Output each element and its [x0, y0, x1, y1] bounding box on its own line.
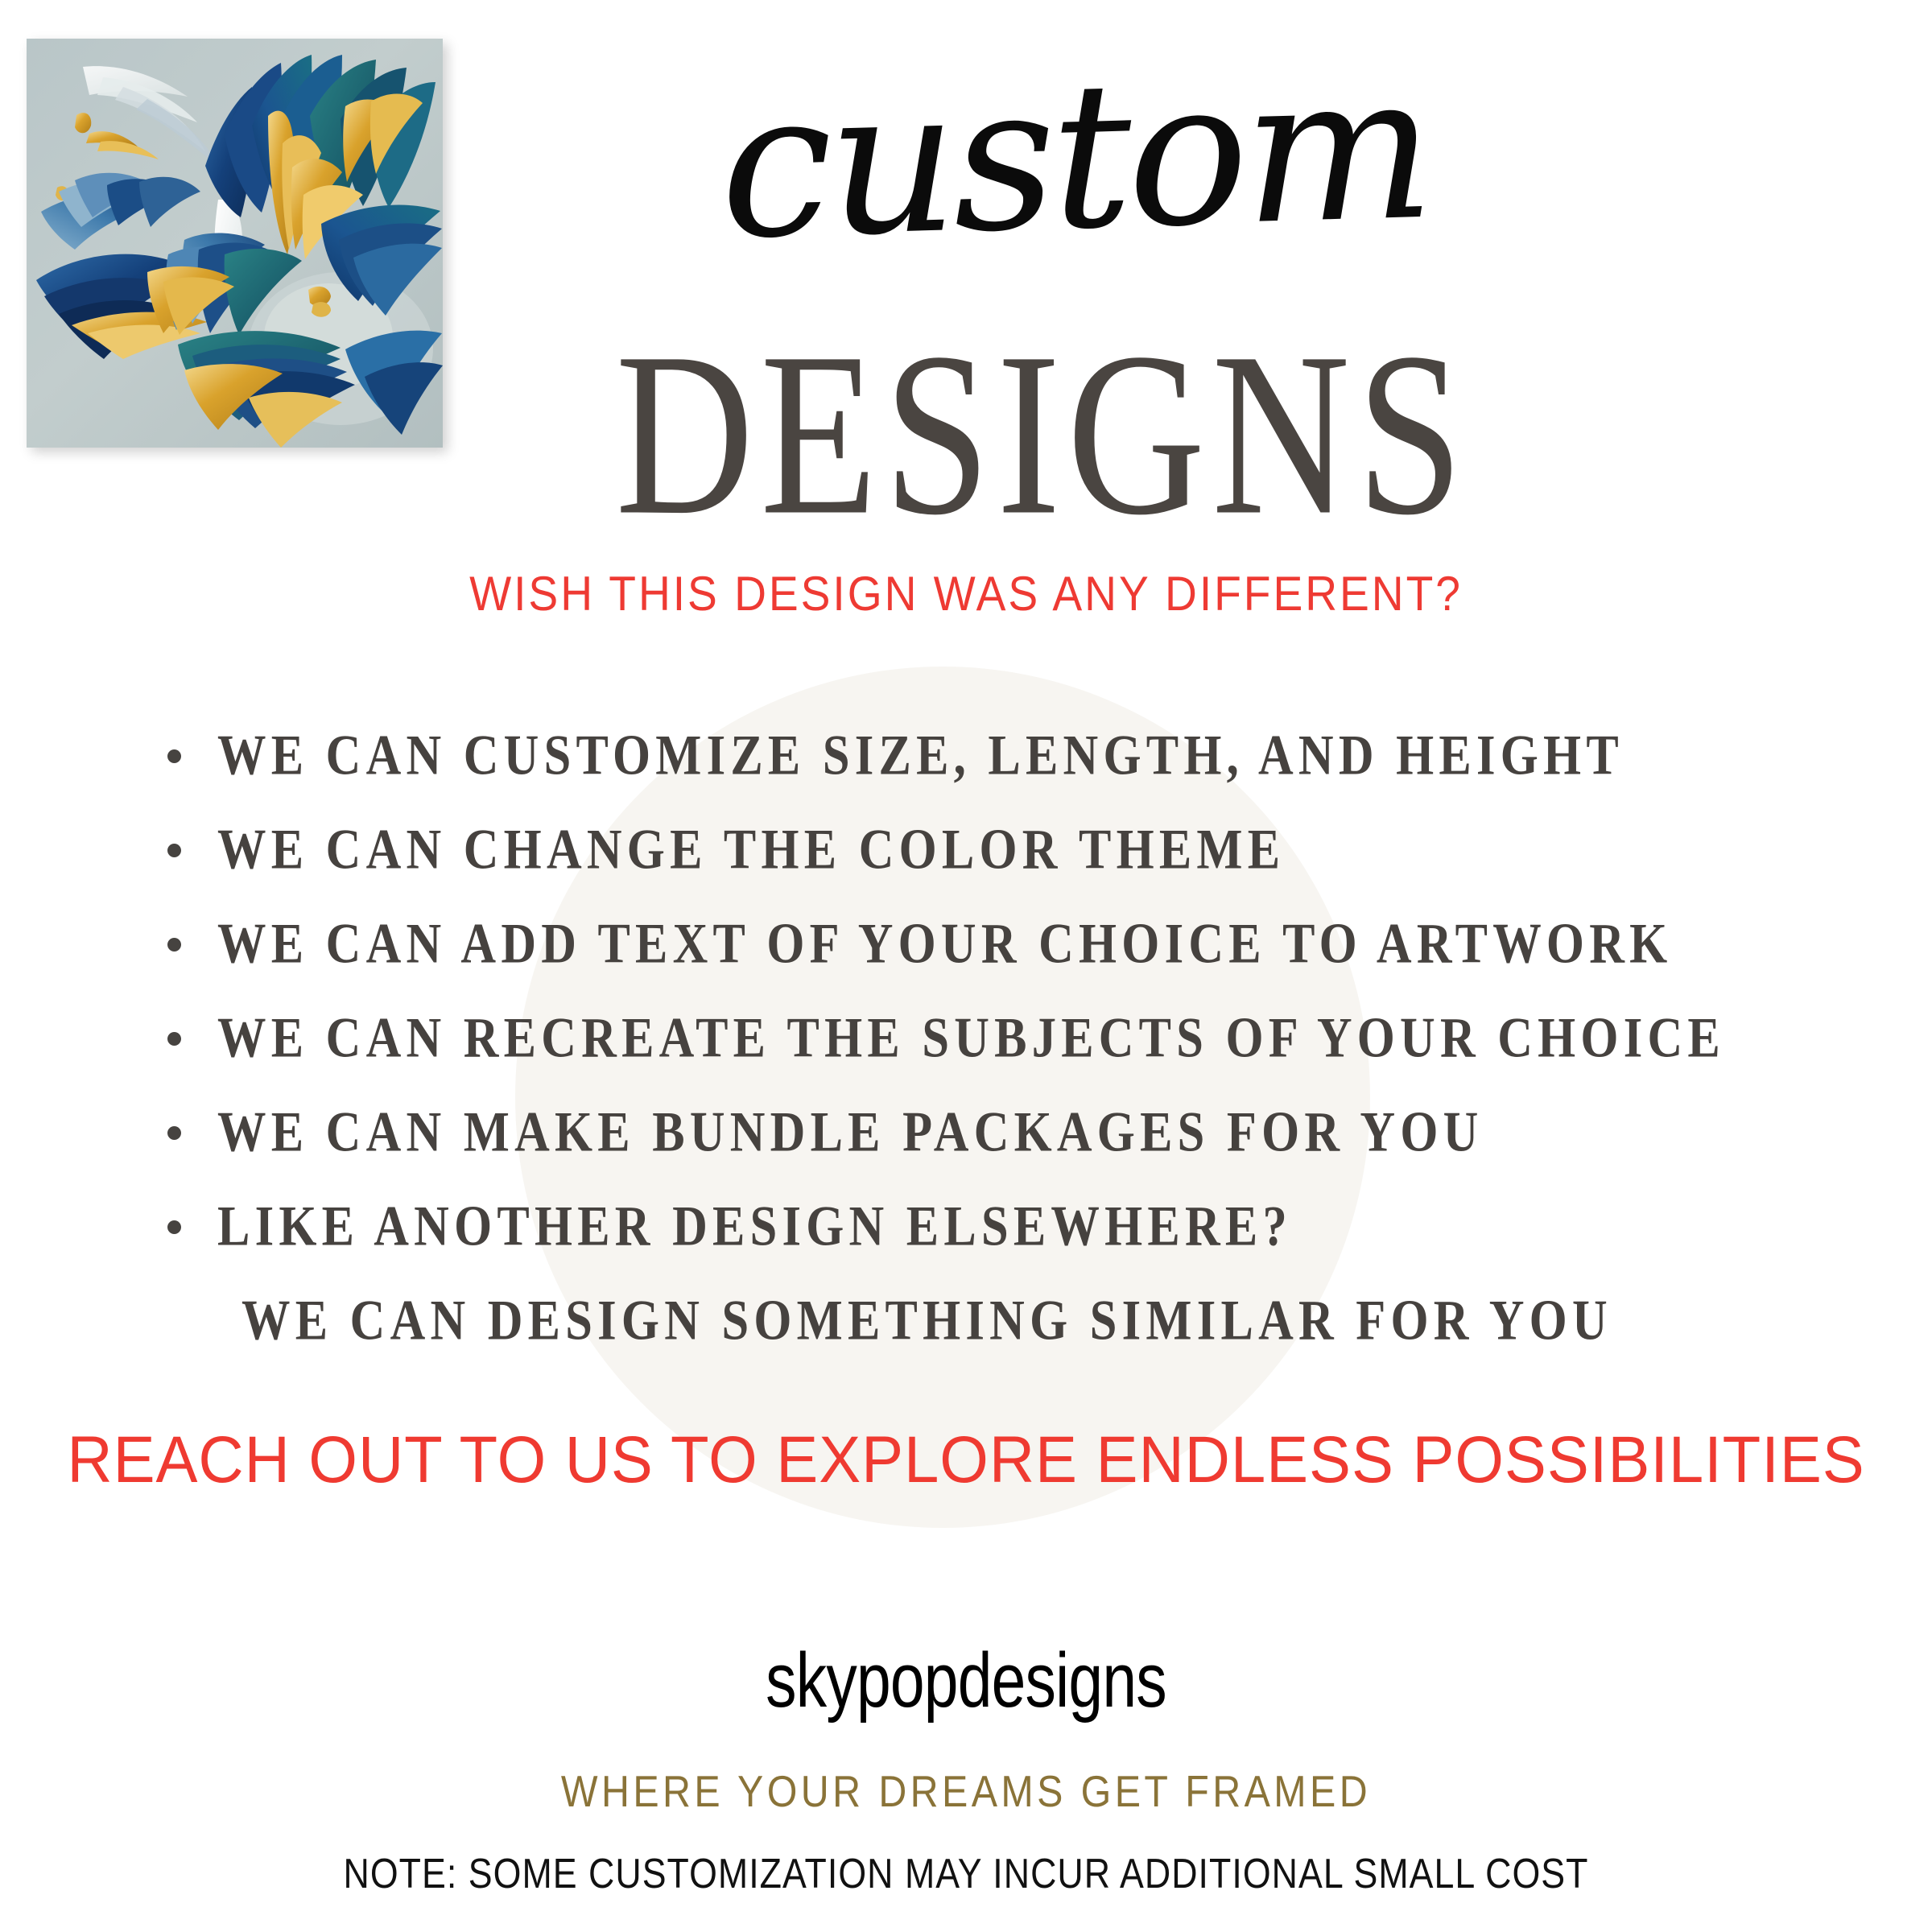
list-item: WE CAN CUSTOMIZE SIZE, LENGTH, AND HEIGH… — [161, 708, 1876, 803]
page-title: DESIGNS — [76, 318, 1932, 551]
footer-note: NOTE: SOME CUSTOMIZATION MAY INCUR ADDIT… — [135, 1853, 1797, 1895]
bullet-dot-icon — [167, 749, 181, 763]
subtitle-question: WISH THIS DESIGN WAS ANY DIFFERENT? — [77, 570, 1855, 618]
cta-text: REACH OUT TO US TO EXPLORE ENDLESS POSSI… — [48, 1427, 1884, 1493]
feature-label: WE CAN CHANGE THE COLOR THEME — [217, 821, 1285, 878]
list-item: WE CAN RECREATE THE SUBJECTS OF YOUR CHO… — [161, 991, 1876, 1085]
feature-label: LIKE ANOTHER DESIGN ELSEWHERE? — [217, 1198, 1292, 1255]
bullet-dot-icon — [167, 938, 181, 952]
feature-label: WE CAN CUSTOMIZE SIZE, LENGTH, AND HEIGH… — [217, 727, 1624, 784]
feature-label: WE CAN RECREATE THE SUBJECTS OF YOUR CHO… — [217, 1009, 1725, 1067]
feature-label: WE CAN DESIGN SOMETHING SIMILAR FOR YOU — [242, 1292, 1612, 1349]
list-item: WE CAN ADD TEXT OF YOUR CHOICE TO ARTWOR… — [161, 897, 1876, 991]
list-item: WE CAN CHANGE THE COLOR THEME — [161, 803, 1876, 897]
features-list: WE CAN CUSTOMIZE SIZE, LENGTH, AND HEIGH… — [161, 708, 1876, 1368]
brand-name: skypopdesigns — [193, 1642, 1739, 1719]
bullet-dot-icon — [167, 1220, 181, 1234]
list-item: LIKE ANOTHER DESIGN ELSEWHERE? — [161, 1179, 1876, 1274]
bullet-dot-icon — [167, 844, 181, 857]
bullet-dot-icon — [167, 1032, 181, 1046]
list-item: WE CAN MAKE BUNDLE PACKAGES FOR YOU — [161, 1085, 1876, 1179]
list-item-continuation: WE CAN DESIGN SOMETHING SIMILAR FOR YOU — [161, 1274, 1876, 1368]
brand-tagline: WHERE YOUR DREAMS GET FRAMED — [116, 1769, 1816, 1814]
feature-label: WE CAN ADD TEXT OF YOUR CHOICE TO ARTWOR… — [217, 915, 1672, 972]
feature-label: WE CAN MAKE BUNDLE PACKAGES FOR YOU — [217, 1104, 1484, 1161]
bullet-dot-icon — [167, 1126, 181, 1140]
